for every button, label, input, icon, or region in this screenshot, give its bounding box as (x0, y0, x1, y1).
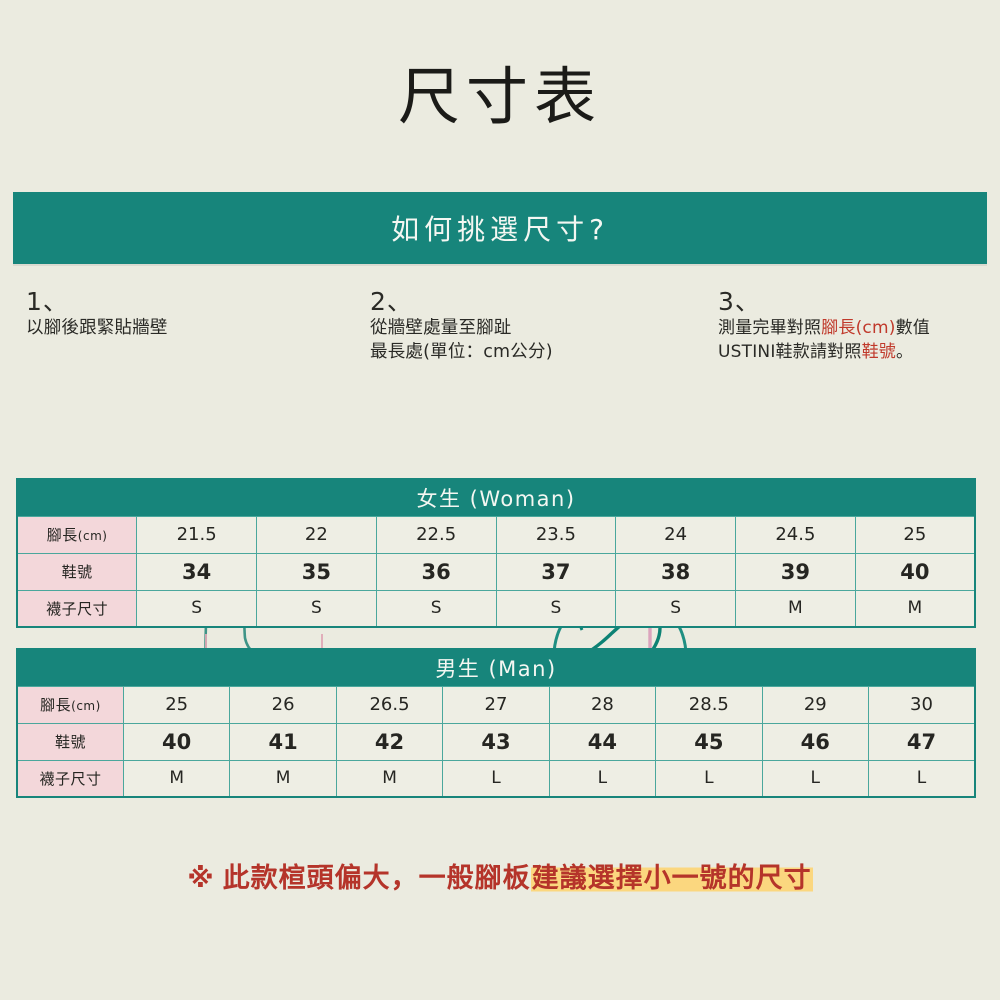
cell: 35 (257, 553, 377, 590)
cell: 22.5 (376, 516, 496, 553)
table-woman-title: 女生 (Woman) (17, 479, 975, 516)
step-2: 2、 從牆壁處量至腳趾 最長處(單位：cm公分) (370, 288, 560, 365)
row-label: 襪子尺寸 (39, 770, 101, 788)
row-header-shoe-size: 鞋號 (17, 553, 137, 590)
cell: 44 (549, 723, 655, 760)
cell: L (443, 760, 549, 797)
table-row: 鞋號 34 35 36 37 38 39 40 (17, 553, 975, 590)
table-row: 腳長(cm) 25 26 26.5 27 28 28.5 29 30 (17, 686, 975, 723)
row-label: 鞋號 (55, 733, 86, 751)
row-label: 鞋號 (62, 563, 93, 581)
step-3-text-b: 數值 (896, 318, 930, 338)
cell: M (230, 760, 336, 797)
cell: 24.5 (736, 516, 856, 553)
row-header-foot-length: 腳長(cm) (17, 686, 123, 723)
cell: 30 (869, 686, 976, 723)
step-1-number: 1、 (26, 288, 206, 316)
cell: 37 (496, 553, 616, 590)
cell: 47 (869, 723, 976, 760)
table-row: 襪子尺寸 S S S S S M M (17, 590, 975, 627)
footnote-plain-text: 此款楦頭偏大，一般腳板 (223, 863, 531, 894)
row-label: 襪子尺寸 (46, 600, 108, 618)
cell: M (336, 760, 442, 797)
table-woman-title-row: 女生 (Woman) (17, 479, 975, 516)
cell: 28.5 (656, 686, 762, 723)
cell: M (123, 760, 229, 797)
row-header-sock-size: 襪子尺寸 (17, 760, 123, 797)
step-2-number: 2、 (370, 288, 560, 316)
row-label: 腳長 (47, 526, 78, 544)
row-unit: (cm) (71, 699, 101, 713)
footnote: ※此款楦頭偏大，一般腳板建議選擇小一號的尺寸 (0, 862, 1000, 896)
cell: 38 (616, 553, 736, 590)
row-header-shoe-size: 鞋號 (17, 723, 123, 760)
cell: 28 (549, 686, 655, 723)
row-label: 腳長 (40, 696, 71, 714)
step-3-text-d: 。 (896, 342, 913, 362)
cell: 26 (230, 686, 336, 723)
cell: 26.5 (336, 686, 442, 723)
size-chart-page: 尺寸表 如何挑選尺寸? 1、 以腳後跟緊貼牆壁 2、 從牆壁處量至腳趾 最長處(… (0, 0, 1000, 1000)
cell: 40 (123, 723, 229, 760)
table-man-title-row: 男生 (Man) (17, 649, 975, 686)
table-man-title: 男生 (Man) (17, 649, 975, 686)
note-mark-icon: ※ (187, 863, 214, 894)
page-title: 尺寸表 (0, 66, 1000, 128)
step-3-highlight-foot-length: 腳長(cm) (821, 318, 895, 338)
cell: S (376, 590, 496, 627)
cell: 27 (443, 686, 549, 723)
row-unit: (cm) (78, 529, 108, 543)
row-header-foot-length: 腳長(cm) (17, 516, 137, 553)
cell: 22 (257, 516, 377, 553)
steps-section: 1、 以腳後跟緊貼牆壁 2、 從牆壁處量至腳趾 最長處(單位：cm公分) 3、 … (0, 288, 1000, 468)
cell: 43 (443, 723, 549, 760)
cell: L (549, 760, 655, 797)
step-3: 3、 測量完畢對照腳長(cm)數值USTINI鞋款請對照鞋號。 (718, 288, 988, 364)
cell: 36 (376, 553, 496, 590)
table-row: 襪子尺寸 M M M L L L L L (17, 760, 975, 797)
cell: 45 (656, 723, 762, 760)
step-3-highlight-shoe-size: 鞋號 (862, 342, 896, 362)
step-3-text-a: 測量完畢對照 (718, 318, 821, 338)
cell: 34 (137, 553, 257, 590)
cell: 39 (736, 553, 856, 590)
cell: 40 (855, 553, 975, 590)
cell: 41 (230, 723, 336, 760)
cell: 21.5 (137, 516, 257, 553)
cell: 42 (336, 723, 442, 760)
cell: S (616, 590, 736, 627)
step-1: 1、 以腳後跟緊貼牆壁 (26, 288, 206, 340)
cell: 29 (762, 686, 868, 723)
size-table-woman: 女生 (Woman) 腳長(cm) 21.5 22 22.5 23.5 24 2… (16, 478, 976, 628)
cell: S (496, 590, 616, 627)
step-1-description: 以腳後跟緊貼牆壁 (26, 316, 206, 341)
step-3-description: 測量完畢對照腳長(cm)數值USTINI鞋款請對照鞋號。 (718, 316, 988, 364)
cell: L (869, 760, 976, 797)
row-header-sock-size: 襪子尺寸 (17, 590, 137, 627)
cell: 25 (123, 686, 229, 723)
table-row: 腳長(cm) 21.5 22 22.5 23.5 24 24.5 25 (17, 516, 975, 553)
cell: 25 (855, 516, 975, 553)
size-table-man: 男生 (Man) 腳長(cm) 25 26 26.5 27 28 28.5 29… (16, 648, 976, 798)
step-3-number: 3、 (718, 288, 988, 316)
cell: 46 (762, 723, 868, 760)
cell: M (855, 590, 975, 627)
cell: S (137, 590, 257, 627)
banner-label: 如何挑選尺寸? (391, 208, 609, 248)
step-2-description: 從牆壁處量至腳趾 最長處(單位：cm公分) (370, 316, 560, 366)
table-row: 鞋號 40 41 42 43 44 45 46 47 (17, 723, 975, 760)
cell: 23.5 (496, 516, 616, 553)
cell: L (656, 760, 762, 797)
step-3-text-c: USTINI鞋款請對照 (718, 342, 862, 362)
footnote-highlighted-text: 建議選擇小一號的尺寸 (531, 863, 813, 894)
cell: L (762, 760, 868, 797)
cell: M (736, 590, 856, 627)
cell: 24 (616, 516, 736, 553)
how-to-choose-banner: 如何挑選尺寸? (13, 192, 987, 264)
cell: S (257, 590, 377, 627)
